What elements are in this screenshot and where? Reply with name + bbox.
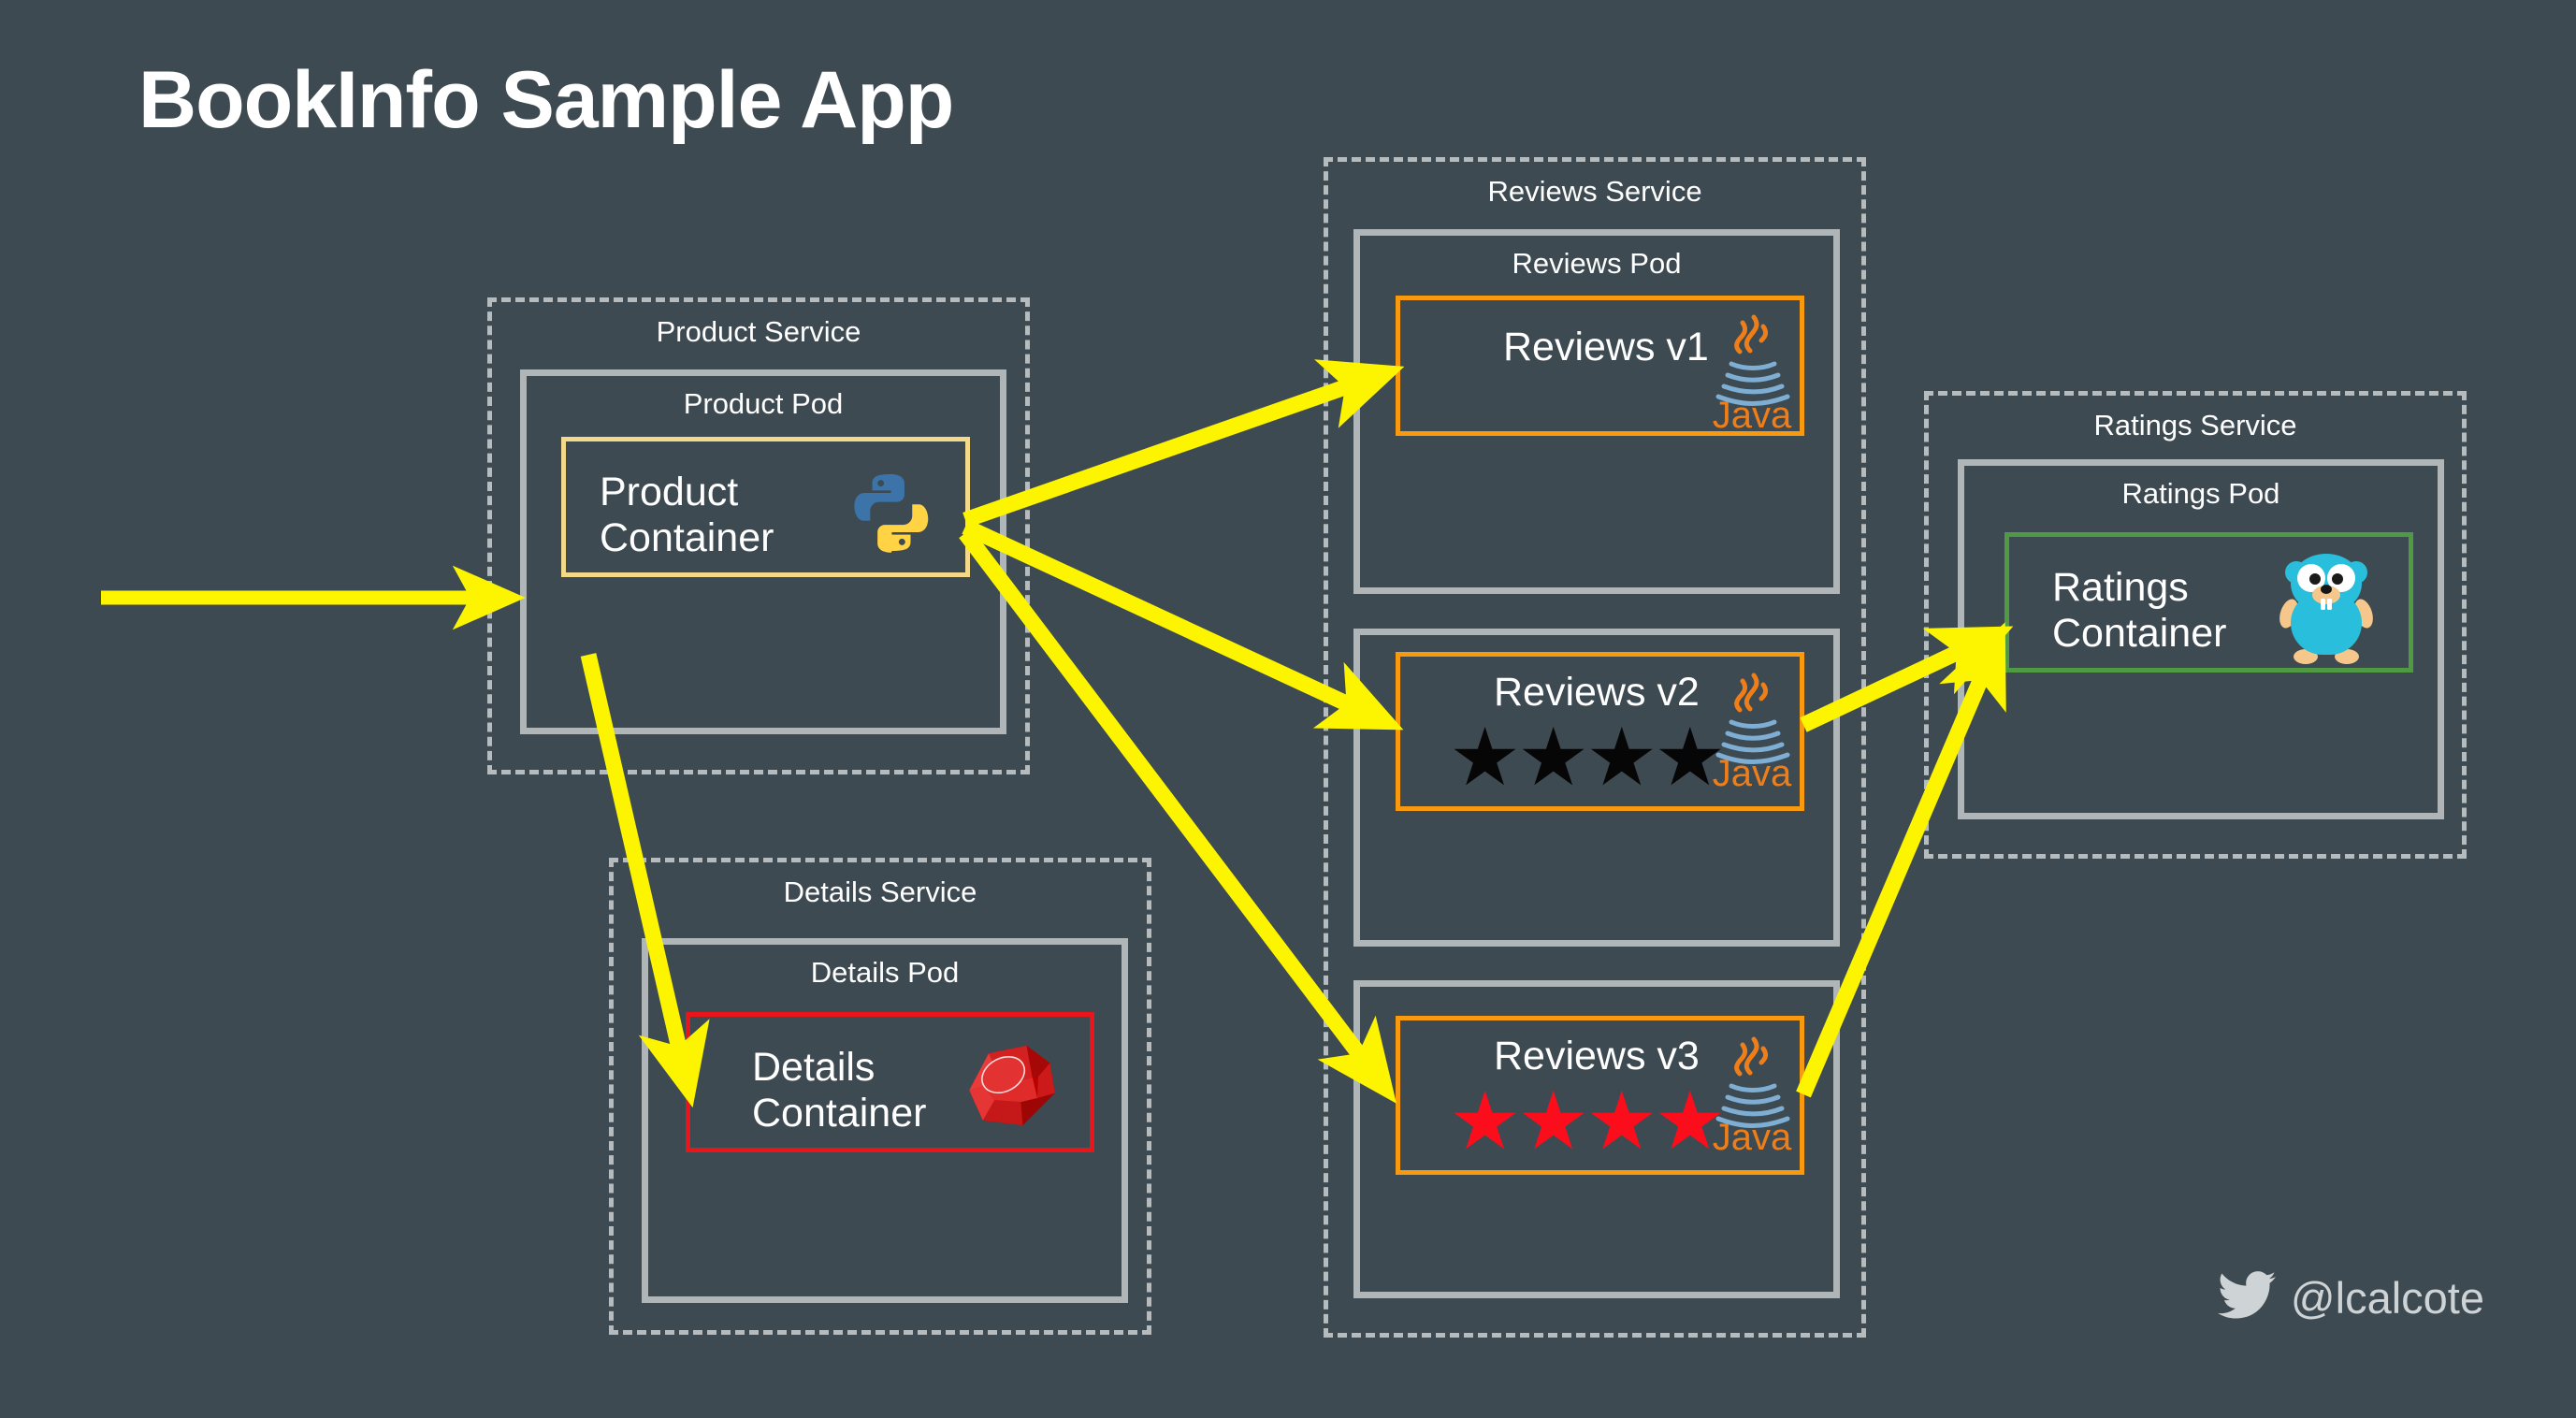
reviews-v2-container-box[interactable]: Reviews v2 ★★★★ Java	[1396, 652, 1804, 811]
java-logo-text: Java	[1713, 1117, 1792, 1153]
go-gopher-logo	[2276, 548, 2377, 669]
reviews-v3-stars: ★★★★	[1449, 1088, 1722, 1156]
product-container-box[interactable]: Product Container	[561, 437, 970, 577]
ratings-container-box[interactable]: Ratings Container	[2004, 532, 2413, 673]
java-logo: Java	[1709, 668, 1795, 794]
java-logo: Java	[1709, 1032, 1795, 1158]
twitter-credit[interactable]: @lcalcote	[2218, 1271, 2484, 1324]
ratings-pod-label: Ratings Pod	[1964, 477, 2438, 511]
product-service-label: Product Service	[492, 315, 1025, 349]
details-container-label: Details Container	[752, 1045, 926, 1136]
java-logo-text: Java	[1713, 753, 1792, 789]
details-pod-label: Details Pod	[648, 956, 1122, 990]
reviews-v3-container-box[interactable]: Reviews v3 ★★★★ Java	[1396, 1016, 1804, 1175]
python-logo	[847, 468, 936, 562]
product-container-label: Product Container	[600, 470, 774, 560]
product-pod-label: Product Pod	[527, 387, 1000, 421]
twitter-handle: @lcalcote	[2291, 1272, 2484, 1324]
reviews-v1-container-box[interactable]: Reviews v1 Java	[1396, 296, 1804, 436]
reviews-service-label: Reviews Service	[1328, 175, 1861, 209]
java-logo: Java	[1709, 310, 1795, 436]
reviews-v1-label: Reviews v1	[1503, 325, 1709, 370]
ruby-logo	[964, 1039, 1062, 1137]
details-container-box[interactable]: Details Container	[686, 1012, 1094, 1152]
ratings-service-label: Ratings Service	[1929, 409, 2462, 442]
reviews-v2-stars: ★★★★	[1449, 724, 1722, 792]
reviews-pod-label: Reviews Pod	[1360, 247, 1833, 281]
reviews-v3-label: Reviews v3	[1494, 1034, 1700, 1079]
ratings-container-label: Ratings Container	[2052, 565, 2226, 656]
details-service-label: Details Service	[614, 875, 1147, 909]
twitter-bird-icon	[2218, 1271, 2276, 1324]
reviews-v2-label: Reviews v2	[1494, 670, 1700, 716]
page-title: BookInfo Sample App	[138, 54, 953, 147]
java-logo-text: Java	[1713, 395, 1792, 431]
